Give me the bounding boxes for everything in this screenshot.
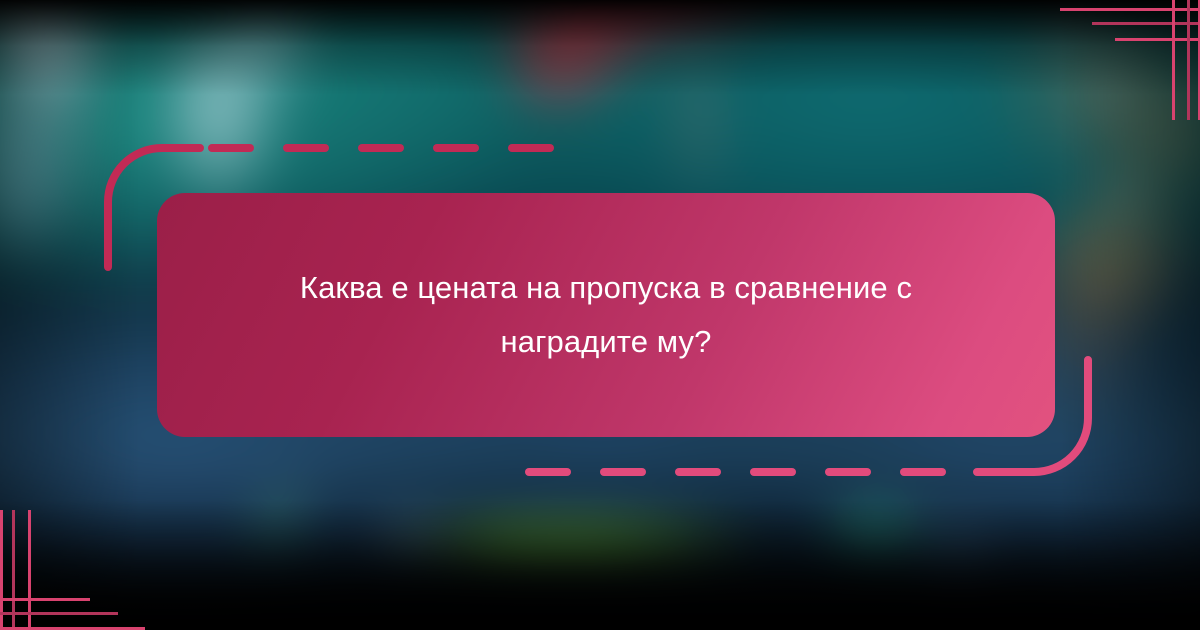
grid-line-h2 bbox=[1092, 22, 1200, 25]
dash bbox=[508, 144, 554, 152]
grid-line-h1 bbox=[0, 598, 90, 601]
grid-line-h1 bbox=[1060, 8, 1200, 11]
grid-line-v1 bbox=[1172, 0, 1175, 120]
dash bbox=[433, 144, 479, 152]
dash bbox=[358, 144, 404, 152]
bracket-top-left-dashes bbox=[208, 144, 554, 152]
question-card: Каква е цената на пропуска в сравнение с… bbox=[157, 193, 1055, 437]
dash bbox=[283, 144, 329, 152]
grid-line-v2 bbox=[1187, 0, 1190, 120]
grid-line-h2 bbox=[0, 612, 118, 615]
social-card-image: Каква е цената на пропуска в сравнение с… bbox=[0, 0, 1200, 630]
dash bbox=[208, 144, 254, 152]
grid-corner-top-right bbox=[1060, 0, 1200, 120]
question-text: Каква е цената на пропуска в сравнение с… bbox=[226, 261, 986, 369]
grid-corner-bottom-left bbox=[0, 510, 145, 630]
